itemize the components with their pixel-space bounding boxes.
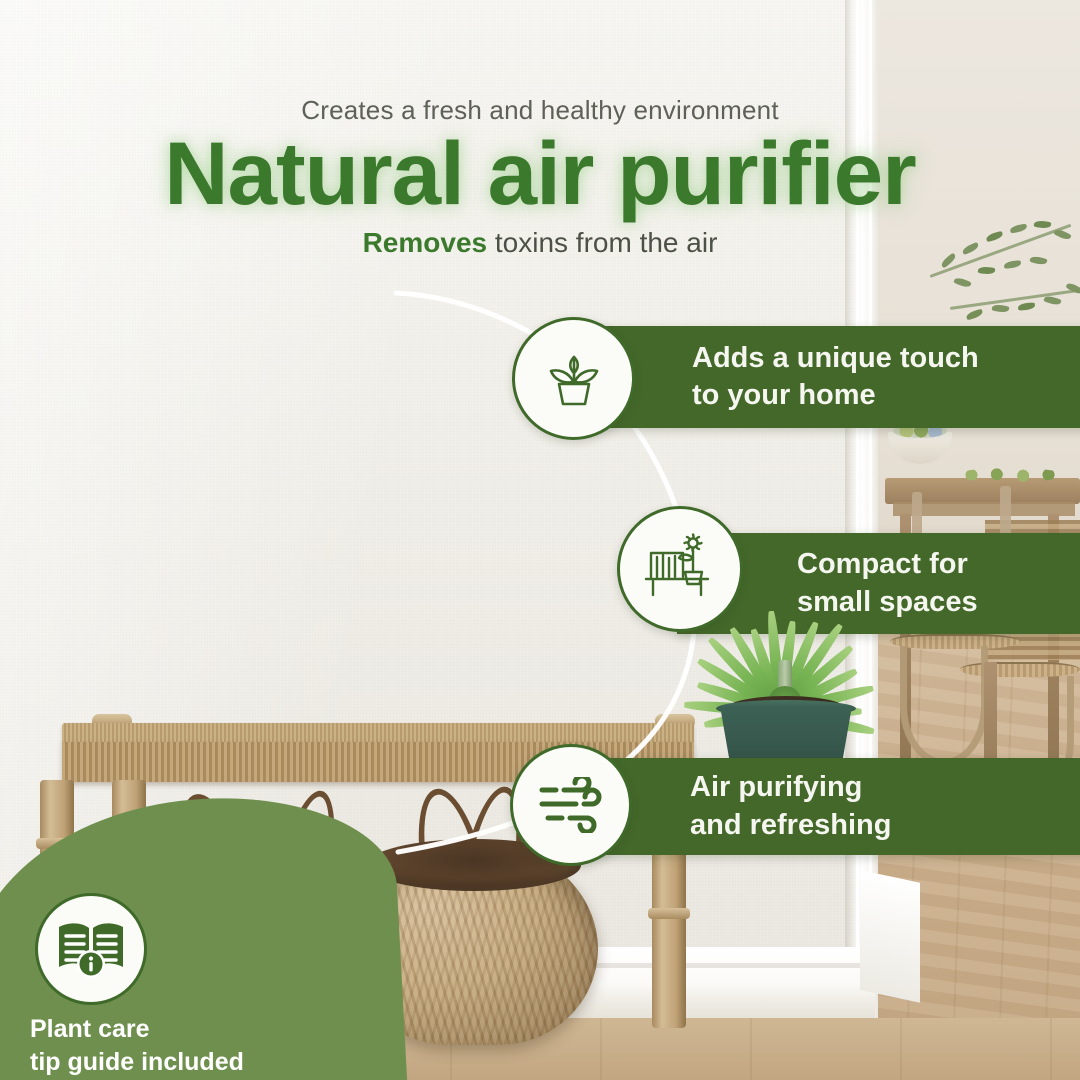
product-infographic: Creates a fresh and healthy environment … [0,0,1080,1080]
feature-1-line-1: Adds a unique touch [692,340,979,377]
potted-plant-icon [538,343,610,415]
feature-3-pill[interactable]: Air purifying and refreshing [570,758,1080,855]
open-book-info-icon [55,917,127,981]
wind-icon-circle[interactable] [510,744,632,866]
subtitle-text: Removes toxins from the air [0,227,1080,259]
plant-care-label: Plant care tip guide included [30,1013,244,1080]
plant-care-icon-circle[interactable] [35,893,147,1005]
feature-1-line-2: to your home [692,377,979,414]
potted-plant-icon-circle[interactable] [512,317,635,440]
feature-item-3[interactable]: Air purifying and refreshing [510,744,950,869]
wind-icon [534,777,608,833]
plant-care-line-2: tip guide included [30,1046,244,1079]
subtitle-rest: toxins from the air [487,227,717,258]
feature-3-line-2: and refreshing [690,807,891,844]
plant-care-line-1: Plant care [30,1013,244,1046]
feature-3-line-1: Air purifying [690,769,891,806]
table-greens-decor [955,468,1065,482]
wall-baseboard-corner [860,870,920,1003]
page-title: Natural air purifier [0,127,1080,220]
feature-1-pill[interactable]: Adds a unique touch to your home [572,326,1080,428]
subtitle-emphasis: Removes [363,227,488,258]
feature-item-1[interactable]: Adds a unique touch to your home [512,317,952,442]
eyebrow-text: Creates a fresh and healthy environment [0,95,1080,126]
